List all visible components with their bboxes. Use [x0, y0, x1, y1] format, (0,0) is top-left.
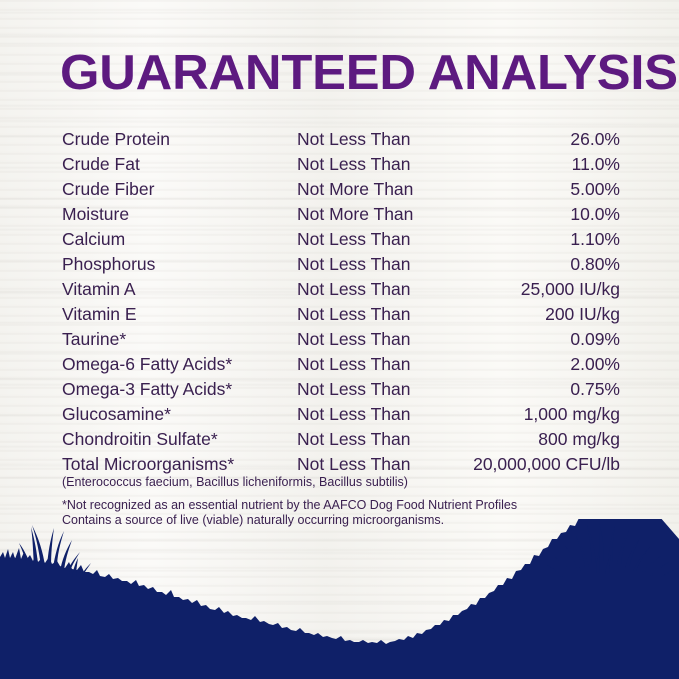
nutrient-name: Omega-6 Fatty Acids*: [62, 352, 297, 377]
nutrient-name: Crude Fat: [62, 152, 297, 177]
nutrient-name: Crude Protein: [62, 127, 297, 152]
nutrient-qualifier: Not Less Than: [297, 352, 462, 377]
table-row: Chondroitin Sulfate*Not Less Than800 mg/…: [62, 427, 620, 452]
nutrient-amount: 2.00%: [462, 352, 620, 377]
table-row: Vitamin ENot Less Than200 IU/kg: [62, 302, 620, 327]
guaranteed-analysis-panel: GUARANTEED ANALYSIS Crude ProteinNot Les…: [0, 0, 679, 679]
nutrient-qualifier: Not Less Than: [297, 302, 462, 327]
nutrient-qualifier: Not Less Than: [297, 152, 462, 177]
table-row: Crude ProteinNot Less Than26.0%: [62, 127, 620, 152]
table-row: Omega-6 Fatty Acids*Not Less Than2.00%: [62, 352, 620, 377]
nutrient-amount: 0.80%: [462, 252, 620, 277]
nutrient-amount: 26.0%: [462, 127, 620, 152]
nutrient-name: Taurine*: [62, 327, 297, 352]
nutrient-amount: 0.09%: [462, 327, 620, 352]
nutrient-name: Chondroitin Sulfate*: [62, 427, 297, 452]
nutrient-qualifier: Not Less Than: [297, 427, 462, 452]
table-row: Taurine*Not Less Than0.09%: [62, 327, 620, 352]
nutrient-amount: 0.75%: [462, 377, 620, 402]
nutrient-name: Vitamin A: [62, 277, 297, 302]
nutrient-amount: 5.00%: [462, 177, 620, 202]
nutrient-name: Moisture: [62, 202, 297, 227]
table-row: MoistureNot More Than10.0%: [62, 202, 620, 227]
nutrient-qualifier: Not Less Than: [297, 277, 462, 302]
table-row: PhosphorusNot Less Than0.80%: [62, 252, 620, 277]
nutrient-amount: 800 mg/kg: [462, 427, 620, 452]
nutrient-name: Omega-3 Fatty Acids*: [62, 377, 297, 402]
organisms-note: (Enterococcus faecium, Bacillus lichenif…: [62, 474, 408, 490]
nutrient-qualifier: Not More Than: [297, 202, 462, 227]
nutrient-qualifier: Not More Than: [297, 177, 462, 202]
nutrient-amount: 1,000 mg/kg: [462, 402, 620, 427]
nutrient-qualifier: Not Less Than: [297, 127, 462, 152]
nutrient-qualifier: Not Less Than: [297, 402, 462, 427]
page-title: GUARANTEED ANALYSIS: [60, 47, 640, 100]
table-row: Glucosamine*Not Less Than1,000 mg/kg: [62, 402, 620, 427]
nutrient-name: Glucosamine*: [62, 402, 297, 427]
table-row: CalciumNot Less Than1.10%: [62, 227, 620, 252]
nutrient-qualifier: Not Less Than: [297, 252, 462, 277]
grass-silhouette: [0, 519, 679, 679]
nutrient-amount: 11.0%: [462, 152, 620, 177]
nutrient-name: Crude Fiber: [62, 177, 297, 202]
nutrition-table: Crude ProteinNot Less Than26.0%Crude Fat…: [62, 127, 620, 477]
nutrient-name: Phosphorus: [62, 252, 297, 277]
table-row: Crude FatNot Less Than11.0%: [62, 152, 620, 177]
nutrient-amount: 25,000 IU/kg: [462, 277, 620, 302]
nutrient-qualifier: Not Less Than: [297, 327, 462, 352]
nutrient-name: Vitamin E: [62, 302, 297, 327]
nutrient-qualifier: Not Less Than: [297, 377, 462, 402]
footnote-line-1: *Not recognized as an essential nutrient…: [62, 498, 517, 513]
nutrient-amount: 20,000,000 CFU/lb: [462, 452, 620, 477]
nutrient-amount: 1.10%: [462, 227, 620, 252]
nutrient-name: Calcium: [62, 227, 297, 252]
table-row: Vitamin ANot Less Than25,000 IU/kg: [62, 277, 620, 302]
table-row: Omega-3 Fatty Acids*Not Less Than0.75%: [62, 377, 620, 402]
nutrient-amount: 200 IU/kg: [462, 302, 620, 327]
panel-content: GUARANTEED ANALYSIS Crude ProteinNot Les…: [0, 0, 679, 679]
table-row: Crude FiberNot More Than5.00%: [62, 177, 620, 202]
nutrient-amount: 10.0%: [462, 202, 620, 227]
nutrient-qualifier: Not Less Than: [297, 227, 462, 252]
